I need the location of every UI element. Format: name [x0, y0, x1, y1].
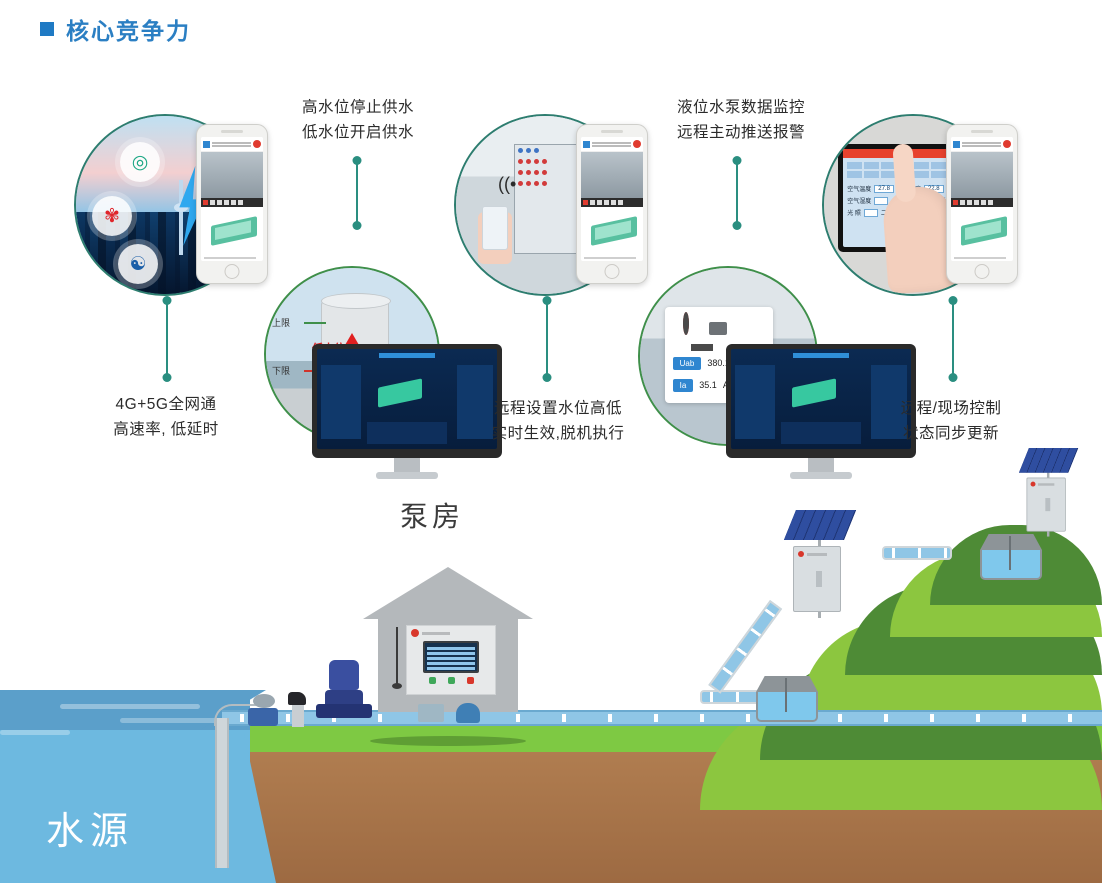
app-title-lines: [212, 141, 251, 148]
water-pump: [322, 660, 366, 722]
monitor-stand: [394, 458, 420, 472]
water-source-label: 水源: [46, 800, 134, 855]
square-bullet-icon: [40, 22, 54, 36]
current-tag: Ia: [673, 379, 694, 392]
connector-remote-onsite: [952, 300, 954, 378]
caption-water-level: 高水位停止供水 低水位开启供水: [258, 95, 458, 145]
app-header: [951, 137, 1013, 152]
field-3d-view: [201, 207, 263, 253]
monitor-foot: [376, 472, 438, 479]
indicator-red: [467, 677, 474, 684]
current-readout: Ia 35.1 A: [673, 379, 729, 392]
laptop-icon: [418, 704, 444, 722]
hill-pipe-upper: [882, 546, 952, 560]
house-ground-shadow: [370, 736, 526, 746]
camera-toolbar[interactable]: [581, 198, 643, 207]
solar-panel-icon: [1019, 448, 1078, 473]
status-text-lines: [581, 253, 643, 261]
app-header: [581, 137, 643, 152]
page-header: 核心竞争力: [40, 12, 191, 46]
phone-screen: [581, 137, 643, 261]
hmi-display[interactable]: [423, 641, 479, 673]
indicator-green: [429, 677, 436, 684]
poster-canvas: 核心竞争力 ◎ ✾ ☯ 4G+5G全网通 高: [0, 0, 1102, 883]
tv-tower-icon: [179, 180, 183, 255]
camera-view: [201, 152, 263, 198]
china-telecom-logo: ☯: [118, 244, 158, 284]
connector-network: [166, 300, 168, 378]
air-temp-value: 27.8: [874, 185, 894, 193]
app-logo-icon: [953, 141, 960, 148]
camera-view: [951, 152, 1013, 198]
camera-toolbar[interactable]: [951, 198, 1013, 207]
connector-pump-monitoring: [736, 160, 738, 226]
camera-toolbar[interactable]: [201, 198, 263, 207]
upper-limit-label: 上限: [272, 316, 290, 329]
indicator-green-2: [448, 677, 455, 684]
light-label: 光 照: [847, 208, 861, 217]
phone-network[interactable]: [196, 124, 268, 284]
phone-speaker: [221, 130, 243, 133]
handheld-phone: [482, 206, 508, 250]
pressure-sensor: [288, 692, 308, 728]
status-text-lines: [951, 253, 1013, 261]
monitor-stand: [808, 458, 834, 472]
phone-screen: [201, 137, 263, 261]
intake-riser-pipe: [215, 718, 229, 868]
water-ripple-1: [60, 704, 200, 709]
voltage-tag: Uab: [673, 357, 702, 370]
reservoir-lower: [756, 676, 818, 722]
monitor-foot: [790, 472, 852, 479]
pump-house-label: 泵房: [400, 495, 464, 535]
app-logo-icon: [203, 141, 210, 148]
page-title: 核心竞争力: [66, 12, 191, 46]
hand-holding-phone: [478, 212, 512, 264]
current-value: 35.1: [699, 380, 717, 390]
app-logo-icon: [583, 141, 590, 148]
antenna-icon: [396, 627, 398, 685]
camera-view: [581, 152, 643, 198]
phone-speaker: [601, 130, 623, 133]
phone-hmi[interactable]: [946, 124, 1018, 284]
air-temp-label: 空气温度: [847, 184, 871, 193]
upper-limit-line: [304, 322, 326, 324]
field-3d-view: [581, 207, 643, 253]
china-unicom-logo: ✾: [92, 196, 132, 236]
app-title-lines: [962, 141, 1001, 148]
home-button[interactable]: [605, 264, 620, 279]
control-cabinet-panel[interactable]: [406, 625, 496, 695]
caption-remote-setting: 远程设置水位高低 实时生效,脱机执行: [458, 396, 658, 446]
water-ripple-3: [0, 730, 70, 735]
reservoir-upper: [980, 534, 1042, 580]
solar-panel-icon: [784, 510, 856, 540]
solar-cabinet-upper: [1024, 448, 1073, 537]
indicator-lights: [407, 677, 495, 684]
connector-water-level: [356, 160, 358, 226]
home-button[interactable]: [975, 264, 990, 279]
home-button[interactable]: [225, 264, 240, 279]
lower-limit-label: 下限: [272, 364, 290, 377]
app-title-lines: [592, 141, 631, 148]
caption-remote-onsite: 远程/现场控制 状态同步更新: [856, 396, 1046, 446]
phone-screen: [951, 137, 1013, 261]
app-header: [201, 137, 263, 152]
connector-remote-setting: [546, 300, 548, 378]
caption-pump-monitoring: 液位水泵数据监控 远程主动推送报警: [636, 95, 846, 145]
phone-cabinet[interactable]: [576, 124, 648, 284]
air-humidity-label: 空气湿度: [847, 196, 871, 205]
field-3d-view: [951, 207, 1013, 253]
wifi-signal-icon: ((•: [498, 174, 516, 195]
pump-house: [378, 567, 518, 712]
solar-cabinet-lower: [790, 510, 850, 618]
china-mobile-logo: ◎: [120, 142, 160, 182]
pump-icon: [683, 315, 725, 349]
caption-network: 4G+5G全网通 高速率, 低延时: [66, 392, 266, 442]
house-roof: [363, 567, 533, 619]
control-cabinet-box[interactable]: [793, 546, 841, 612]
control-cabinet-box[interactable]: [1026, 478, 1065, 532]
status-text-lines: [201, 253, 263, 261]
flow-meter: [248, 694, 280, 728]
phone-speaker: [971, 130, 993, 133]
alarm-icon: [1003, 140, 1011, 148]
brand-mark: [407, 626, 495, 640]
gateway-device-icon: [456, 703, 480, 723]
